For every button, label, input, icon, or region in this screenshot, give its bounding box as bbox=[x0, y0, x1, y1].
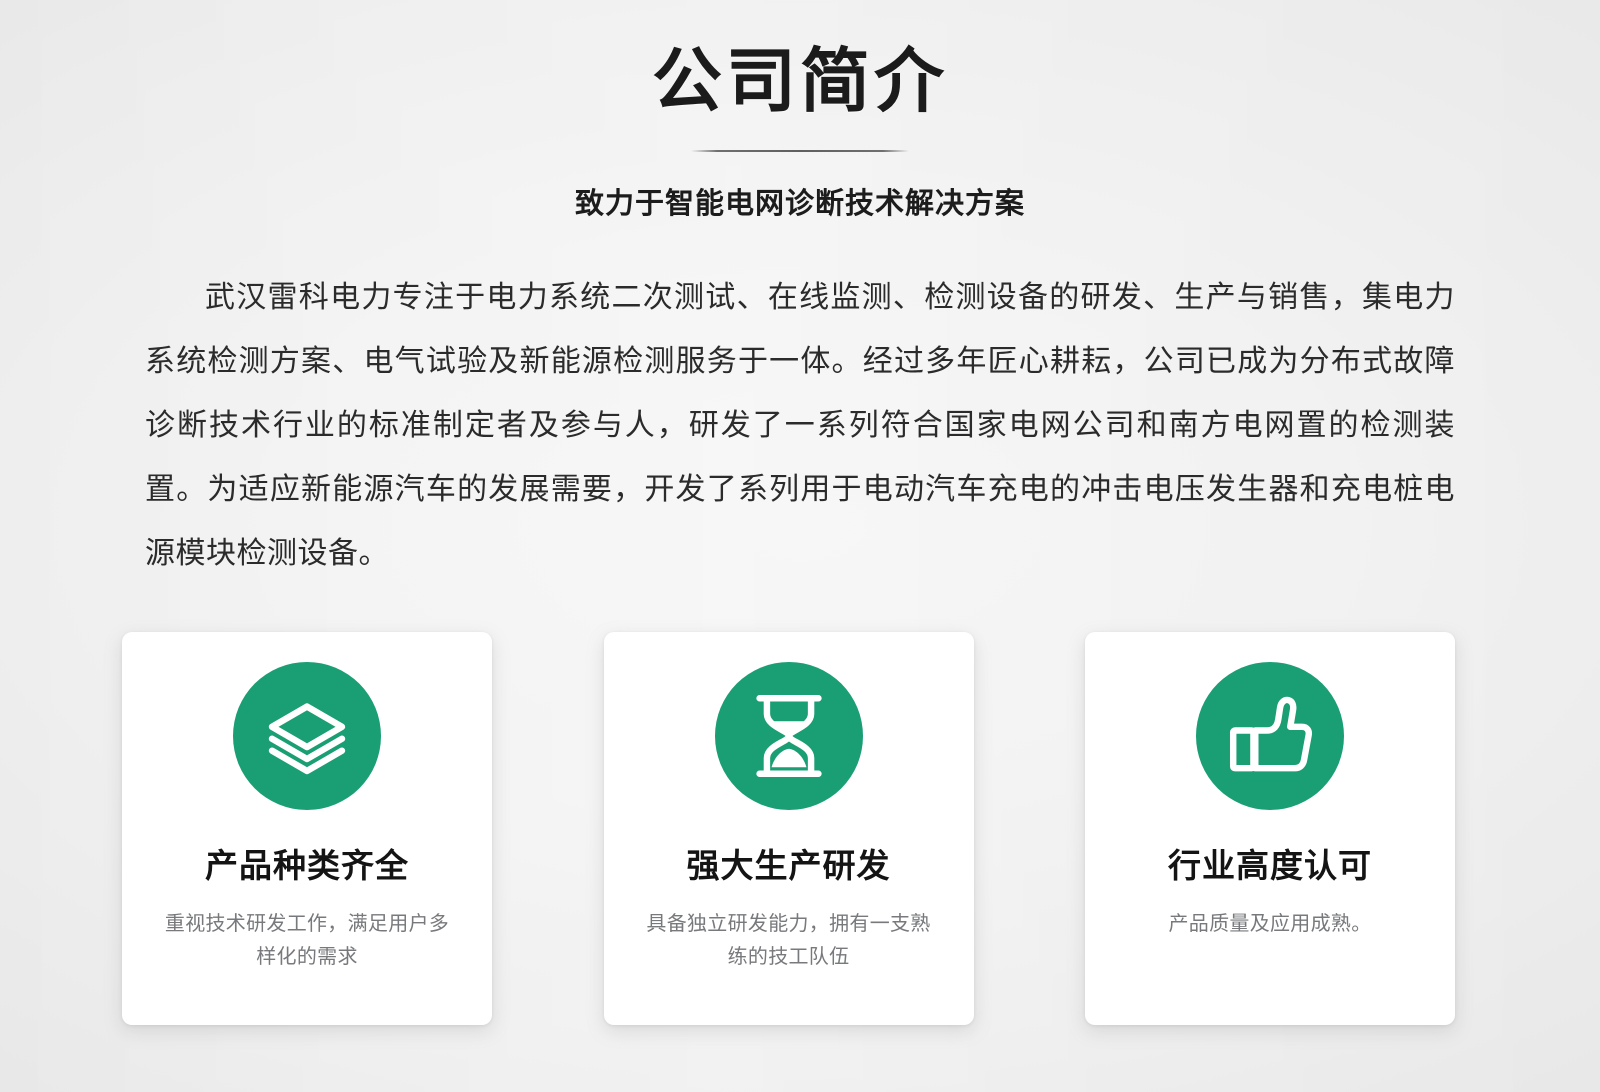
company-intro-paragraph: 武汉雷科电力专注于电力系统二次测试、在线监测、检测设备的研发、生产与销售，集电力… bbox=[145, 266, 1455, 586]
page-subtitle: 致力于智能电网诊断技术解决方案 bbox=[0, 180, 1600, 222]
feature-card-title: 强大生产研发 bbox=[687, 846, 891, 886]
feature-card-description: 重视技术研发工作，满足用户多样化的需求 bbox=[157, 908, 457, 974]
page-header: 公司简介 致力于智能电网诊断技术解决方案 bbox=[0, 0, 1600, 222]
feature-card-rnd-capability[interactable]: 强大生产研发 具备独立研发能力，拥有一支熟练的技工队伍 bbox=[604, 632, 974, 1025]
feature-card-description: 产品质量及应用成熟。 bbox=[1120, 908, 1420, 941]
feature-card-product-variety[interactable]: 产品种类齐全 重视技术研发工作，满足用户多样化的需求 bbox=[122, 632, 492, 1025]
feature-card-title: 产品种类齐全 bbox=[205, 846, 409, 886]
feature-card-industry-recognition[interactable]: 行业高度认可 产品质量及应用成熟。 bbox=[1085, 632, 1455, 1025]
layers-icon bbox=[233, 662, 381, 810]
title-divider bbox=[691, 150, 909, 152]
feature-card-list: 产品种类齐全 重视技术研发工作，满足用户多样化的需求 强大生产研发 具备独立 bbox=[122, 632, 1455, 1025]
company-profile-page: 公司简介 致力于智能电网诊断技术解决方案 武汉雷科电力专注于电力系统二次测试、在… bbox=[0, 0, 1600, 1092]
feature-card-description: 具备独立研发能力，拥有一支熟练的技工队伍 bbox=[639, 908, 939, 974]
page-title: 公司简介 bbox=[0, 44, 1600, 120]
thumbs-up-icon bbox=[1196, 662, 1344, 810]
feature-card-title: 行业高度认可 bbox=[1168, 846, 1372, 886]
company-intro-block: 武汉雷科电力专注于电力系统二次测试、在线监测、检测设备的研发、生产与销售，集电力… bbox=[145, 266, 1455, 586]
hourglass-icon bbox=[715, 662, 863, 810]
